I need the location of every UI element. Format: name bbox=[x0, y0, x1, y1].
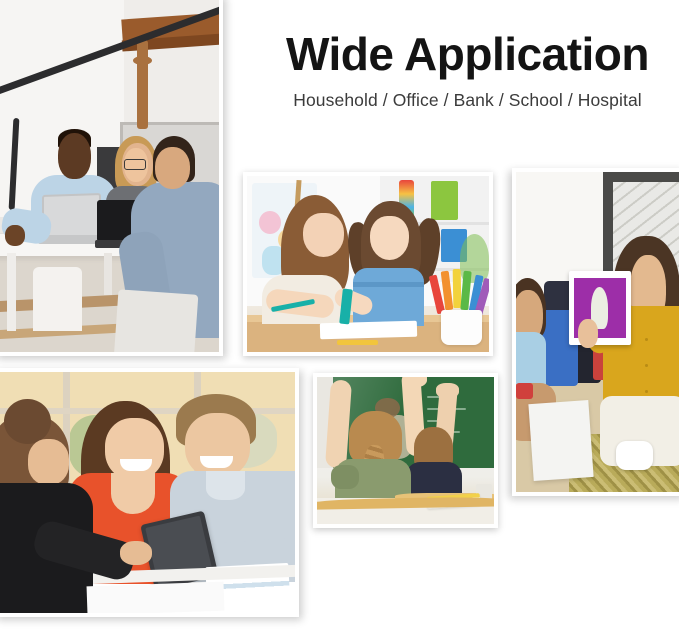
office-scene bbox=[0, 0, 219, 352]
bank-foreground-paper bbox=[87, 582, 225, 613]
hospital-white-paper bbox=[528, 400, 593, 481]
office-person-b-glasses bbox=[124, 159, 146, 170]
school-raised-hand-right bbox=[436, 383, 459, 398]
school-scene bbox=[317, 377, 494, 524]
office-person-c-head bbox=[155, 147, 190, 189]
bank-advisor-hand bbox=[120, 541, 153, 565]
hospital-scene bbox=[516, 172, 679, 492]
page-subtitle: Household / Office / Bank / School / Hos… bbox=[260, 90, 675, 111]
bank-scene bbox=[0, 372, 295, 613]
school-classroom-photo bbox=[313, 373, 498, 528]
office-foreground-paper bbox=[112, 289, 198, 352]
household-colored-pencil-yellow bbox=[452, 269, 460, 308]
office-chair bbox=[33, 267, 82, 331]
household-green-box bbox=[431, 181, 458, 220]
hospital-therapist-hand bbox=[578, 319, 598, 348]
headline-block: Wide Application Household / Office / Ba… bbox=[260, 30, 675, 111]
hospital-child-wristband bbox=[516, 383, 533, 399]
bank-advisor-face bbox=[28, 439, 70, 485]
bank-woman-face bbox=[105, 418, 164, 481]
household-mother-face bbox=[303, 213, 344, 257]
bank-consultation-photo bbox=[0, 368, 299, 617]
bank-man-collar bbox=[206, 471, 245, 500]
household-child-dress-seam bbox=[353, 282, 423, 287]
office-meeting-photo bbox=[0, 0, 223, 356]
hospital-therapist-button-2 bbox=[645, 364, 648, 367]
office-table-leg bbox=[137, 40, 148, 129]
office-desk-leg bbox=[7, 253, 16, 331]
page-title: Wide Application bbox=[260, 30, 675, 78]
bank-woman-smile bbox=[120, 459, 153, 471]
office-desk-leg-2 bbox=[104, 253, 112, 295]
office-person-a-hand bbox=[5, 225, 25, 246]
hospital-therapist-button-3 bbox=[645, 390, 648, 393]
office-person-a-head bbox=[58, 133, 91, 179]
hospital-therapist-shoe bbox=[616, 441, 653, 470]
household-drawing-paper bbox=[319, 321, 416, 339]
school-student-sleeve bbox=[331, 465, 359, 489]
wide-application-banner: Wide Application Household / Office / Ba… bbox=[0, 0, 679, 632]
hospital-therapy-photo bbox=[512, 168, 679, 496]
bank-man-smile bbox=[200, 456, 233, 468]
bank-man-face bbox=[185, 413, 250, 478]
household-scene bbox=[247, 176, 489, 352]
household-artwork-1 bbox=[259, 211, 281, 234]
household-drawing-photo bbox=[243, 172, 493, 356]
household-yellow-pencil bbox=[337, 340, 378, 345]
household-pencil-cup bbox=[441, 310, 482, 345]
